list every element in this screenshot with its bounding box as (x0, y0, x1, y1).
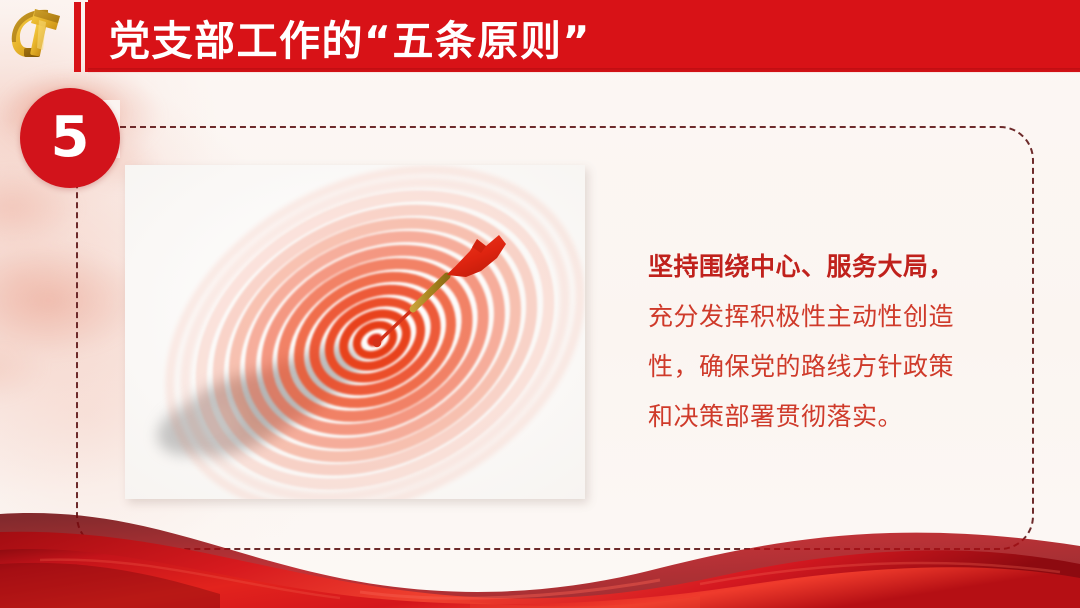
principle-description: 坚持围绕中心、服务大局， 充分发挥积极性主动性创造 性，确保党的路线方针政策 和… (648, 242, 998, 442)
step-number-label: 5 (51, 110, 90, 166)
principle-line-1: 坚持围绕中心、服务大局， (648, 242, 998, 292)
header-accent-bar-outer (74, 2, 81, 72)
page-title: 党支部工作的“五条原则” (109, 6, 591, 68)
dartboard-with-dart-image (125, 165, 585, 499)
header-bar-shadow (88, 68, 1080, 73)
party-emblem-hammer-sickle-icon (4, 2, 70, 64)
step-number-badge: 5 (20, 88, 120, 188)
slide-canvas: 党支部工作的“五条原则” 5 (0, 0, 1080, 608)
red-silk-ribbon-decoration (0, 498, 1080, 608)
principle-line-3: 性，确保党的路线方针政策 (648, 342, 998, 392)
principle-line-2: 充分发挥积极性主动性创造 (648, 292, 998, 342)
principle-line-4: 和决策部署贯彻落实。 (648, 392, 998, 442)
